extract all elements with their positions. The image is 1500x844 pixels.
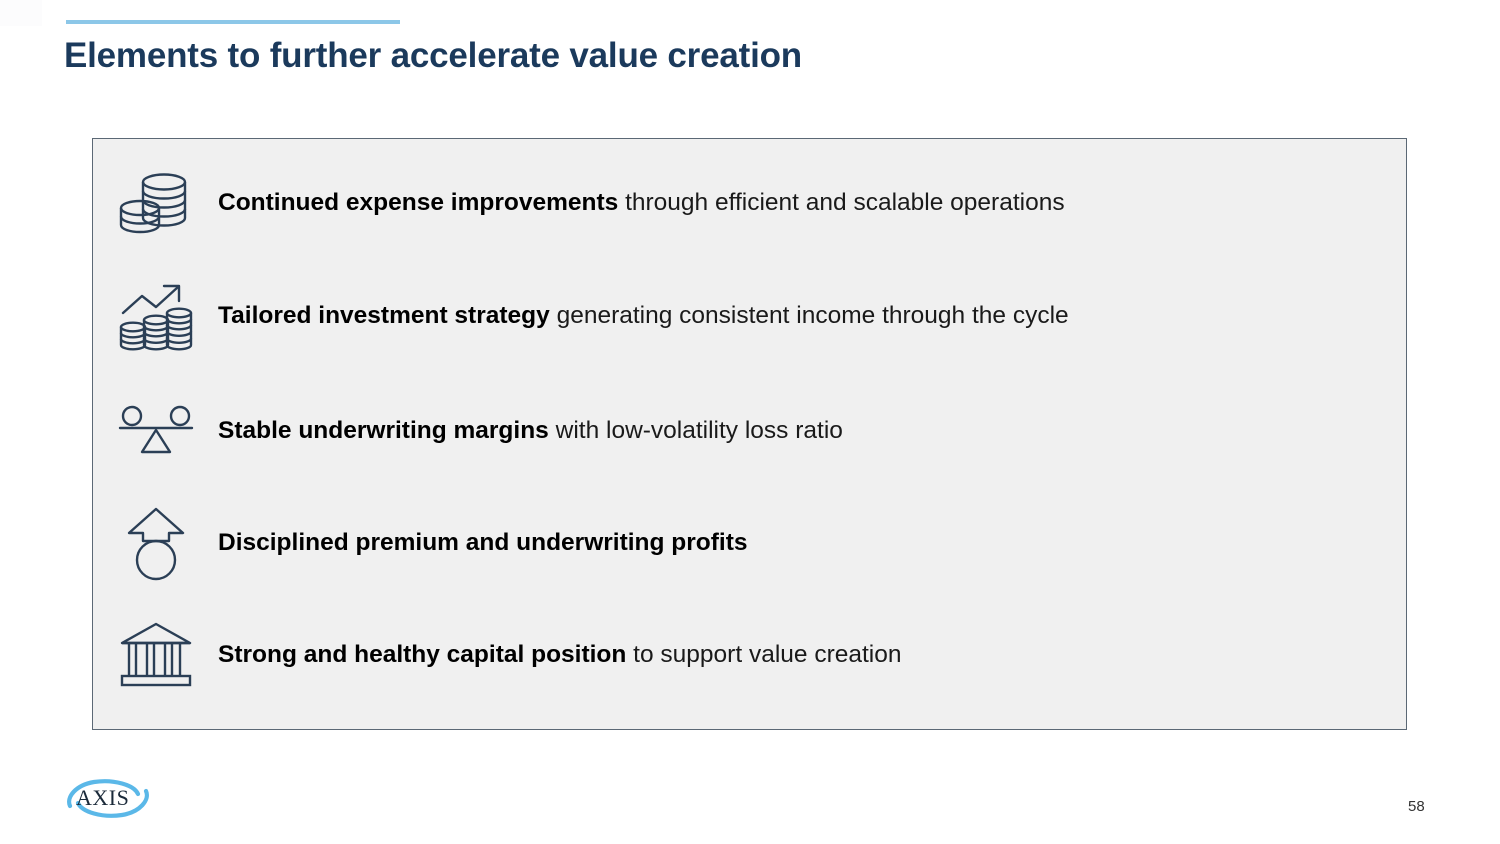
- corner-artifact: [0, 0, 42, 26]
- stacked-coins-icon: [115, 164, 197, 242]
- list-item: Stable underwriting margins with low-vol…: [115, 389, 1386, 473]
- title-accent-bar: [66, 20, 400, 24]
- list-item-text: Disciplined premium and underwriting pro…: [197, 528, 748, 557]
- list-item-lead: Stable underwriting margins: [218, 417, 549, 444]
- axis-logo: AXIS: [62, 775, 154, 821]
- list-item-text: Stable underwriting margins with low-vol…: [197, 416, 843, 445]
- balance-scale-icon: [115, 392, 197, 470]
- bullet-row-list: Continued expense improvements through e…: [93, 139, 1406, 729]
- bank-building-icon: [115, 616, 197, 694]
- list-item-lead: Strong and healthy capital position: [218, 641, 626, 668]
- list-item: Strong and healthy capital position to s…: [115, 613, 1386, 697]
- list-item-text: Strong and healthy capital position to s…: [197, 640, 902, 669]
- list-item-lead: Tailored investment strategy: [218, 302, 550, 329]
- list-item-rest: with low-volatility loss ratio: [549, 417, 843, 444]
- axis-logo-text: AXIS: [76, 785, 129, 810]
- list-item: Continued expense improvements through e…: [115, 161, 1386, 245]
- content-panel: Continued expense improvements through e…: [92, 138, 1407, 730]
- list-item: Tailored investment strategy generating …: [115, 274, 1386, 358]
- list-item-lead: Continued expense improvements: [218, 189, 618, 216]
- list-item-rest: generating consistent income through the…: [550, 302, 1069, 329]
- list-item-lead: Disciplined premium and underwriting pro…: [218, 529, 748, 556]
- page-title: Elements to further accelerate value cre…: [64, 36, 802, 76]
- list-item-text: Tailored investment strategy generating …: [197, 301, 1069, 330]
- list-item-rest: to support value creation: [626, 641, 901, 668]
- list-item-rest: through efficient and scalable operation…: [618, 189, 1064, 216]
- up-arrow-circle-icon: [115, 504, 197, 582]
- list-item: Disciplined premium and underwriting pro…: [115, 501, 1386, 585]
- list-item-text: Continued expense improvements through e…: [197, 188, 1065, 217]
- coin-stacks-growth-arrow-icon: [115, 277, 197, 355]
- page-number: 58: [1408, 798, 1425, 815]
